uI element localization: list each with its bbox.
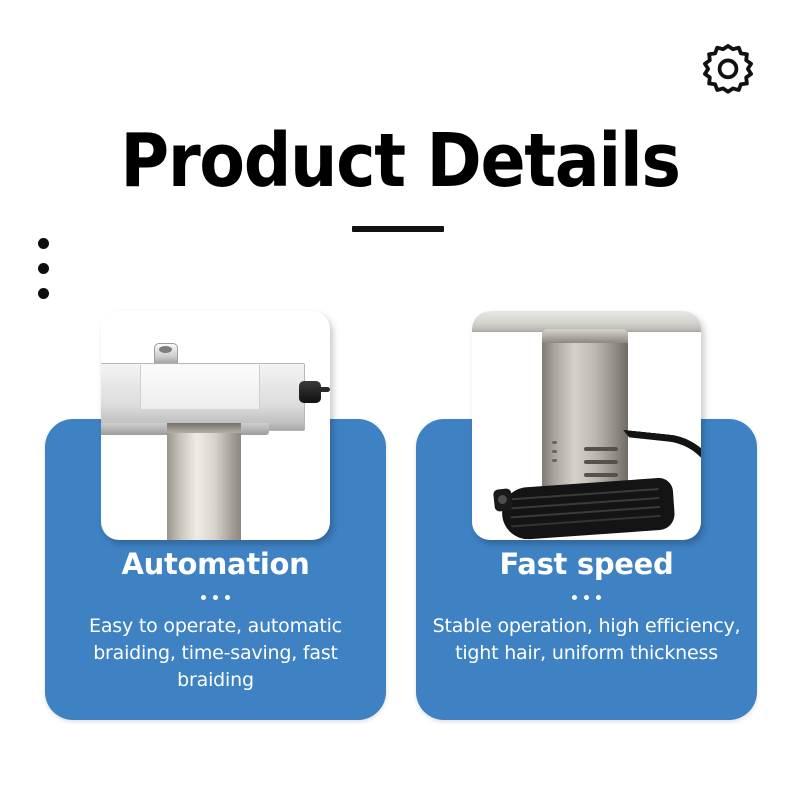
card-separator-dots — [45, 595, 386, 600]
motor-cable-bundle — [500, 477, 675, 540]
side-dot-3 — [38, 288, 49, 299]
motor-vent-small-1 — [552, 441, 557, 444]
page-title: Product Details — [40, 118, 760, 204]
photo-inner — [101, 311, 330, 540]
separator-dot-3 — [225, 595, 230, 600]
actuator-housing — [101, 363, 305, 431]
motor-vent-small-2 — [552, 450, 557, 453]
actuator-connector — [299, 381, 321, 403]
motor-vent-1 — [584, 447, 618, 451]
side-dot-indicator — [38, 238, 49, 299]
motor-vent-2 — [584, 460, 618, 464]
separator-dot-1 — [572, 595, 577, 600]
side-dot-1 — [38, 238, 49, 249]
actuator-tube — [167, 423, 241, 540]
motor-body — [542, 329, 628, 495]
separator-dot-1 — [201, 595, 206, 600]
motor-vent-3 — [584, 473, 618, 477]
card-separator-dots — [416, 595, 757, 600]
card-title: Fast speed — [416, 547, 757, 581]
title-underline — [352, 226, 444, 232]
motor-cable-plug — [493, 488, 513, 512]
side-dot-2 — [38, 263, 49, 274]
gear-icon[interactable] — [699, 41, 757, 99]
photo-inner — [472, 311, 701, 540]
product-photo-linear-actuator — [101, 311, 330, 540]
separator-dot-3 — [596, 595, 601, 600]
motor-vent-small-3 — [552, 459, 557, 462]
separator-dot-2 — [584, 595, 589, 600]
separator-dot-2 — [213, 595, 218, 600]
product-photo-motor-with-cable — [472, 311, 701, 540]
card-description: Stable operation, high efficiency, tight… — [428, 613, 745, 667]
card-title: Automation — [45, 547, 386, 581]
card-description: Easy to operate, automatic braiding, tim… — [57, 613, 374, 694]
product-details-page: Product Details Automation Easy to opera… — [0, 0, 800, 800]
